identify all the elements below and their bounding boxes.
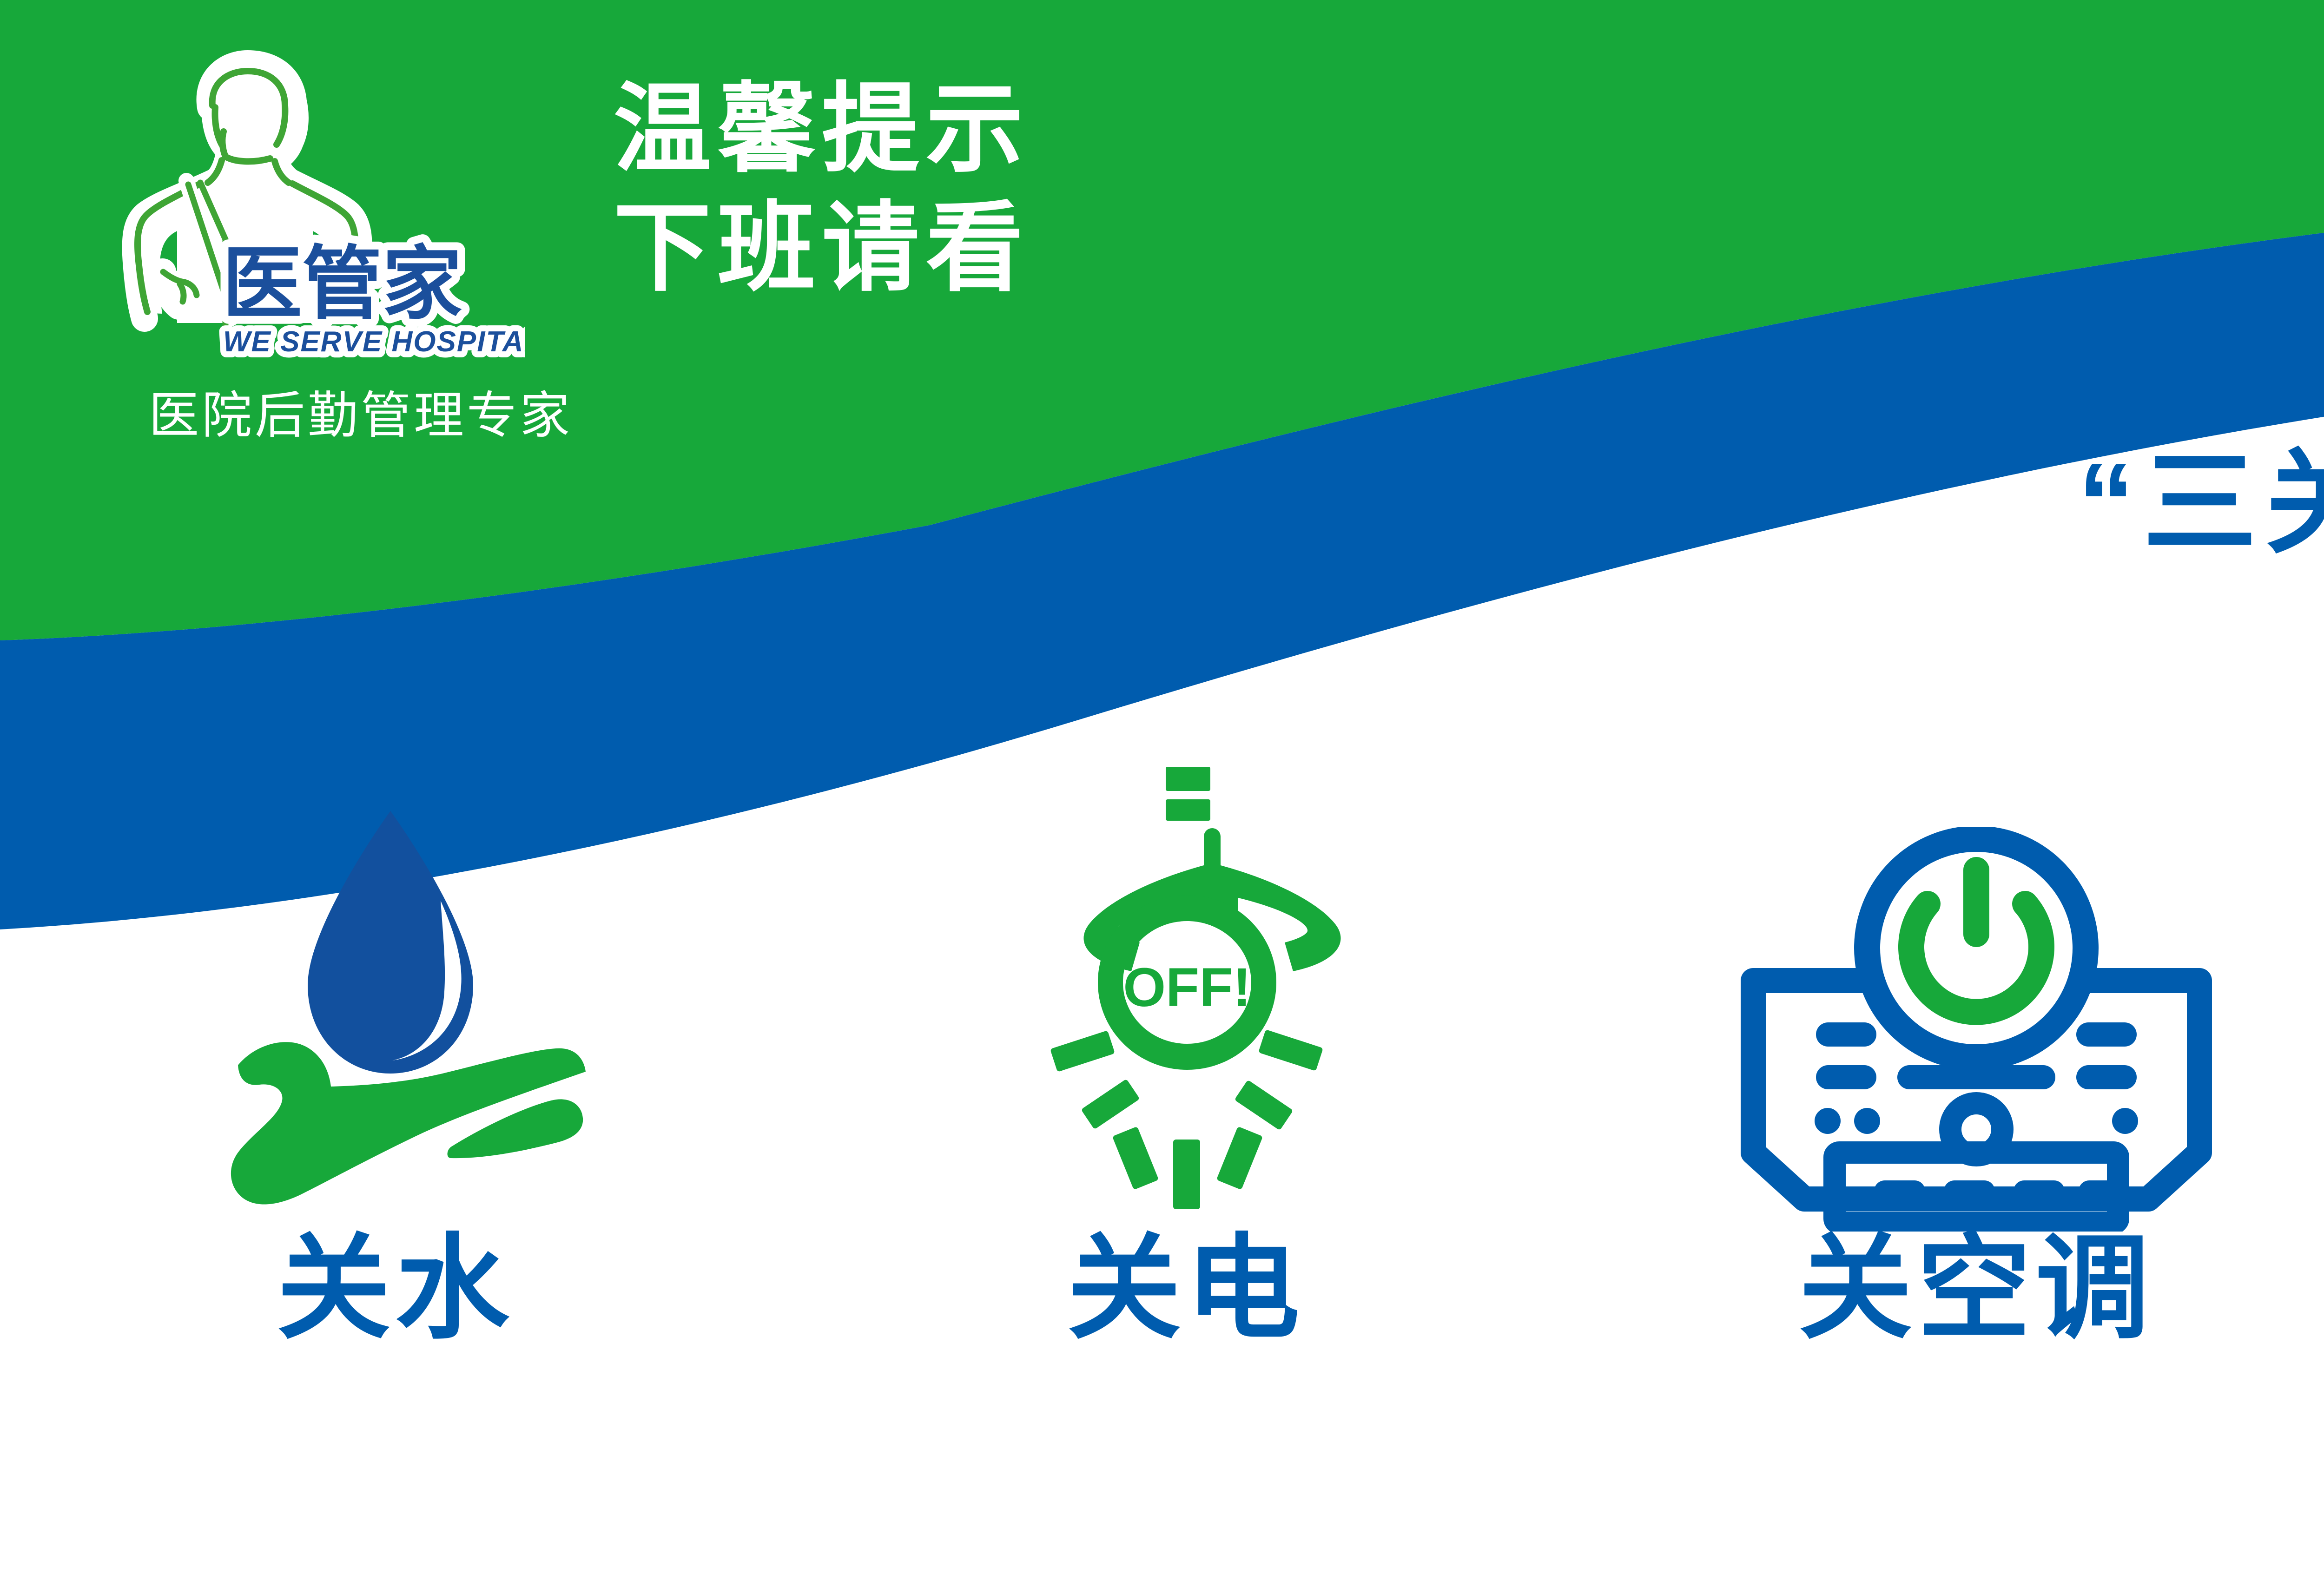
icon-cell-aircon: [1581, 697, 2324, 1232]
icon-cell-water: [0, 697, 791, 1232]
icon-cell-light: OFF!: [791, 697, 1581, 1232]
item-label-water: 关水: [277, 1232, 514, 1345]
brand-logo: 医管家 医管家 WE SERVE HOSPITAL WE SERVE HOSPI…: [86, 21, 551, 430]
logo-english: WE SERVE HOSPITAL: [223, 326, 525, 358]
subtitle-three-off-one-close: “三关一闭”: [2078, 446, 2324, 560]
headline-line-1: 温馨提示: [614, 70, 1030, 189]
brand-tagline: 医院后勤管理专家: [149, 390, 573, 441]
page-title: 温馨提示 下班请看: [614, 70, 1030, 308]
water-drop-on-hand-icon: [205, 785, 586, 1232]
logo-wordmark: 医管家 医管家 WE SERVE HOSPITAL WE SERVE HOSPI…: [218, 232, 525, 372]
icon-row: OFF!: [0, 697, 2324, 1232]
air-conditioner-power-icon: [1735, 827, 2218, 1232]
label-cell-aircon: 关空调: [1581, 1232, 2324, 1464]
ceiling-lamp-off-icon: OFF!: [1002, 762, 1369, 1232]
label-cell-water: 关水: [0, 1232, 791, 1464]
lamp-off-label: OFF!: [1123, 957, 1251, 1018]
item-label-aircon: 关空调: [1798, 1232, 2154, 1345]
label-cell-light: 关电: [791, 1232, 1581, 1464]
item-label-light: 关电: [1067, 1232, 1304, 1345]
logo-name: 医管家: [222, 239, 462, 329]
poster-canvas: 医管家 医管家 WE SERVE HOSPITAL WE SERVE HOSPI…: [0, 0, 2324, 1581]
label-row: 关水 关电 关空调 闭门窗: [0, 1232, 2324, 1464]
headline-line-2: 下班请看: [614, 189, 1030, 308]
